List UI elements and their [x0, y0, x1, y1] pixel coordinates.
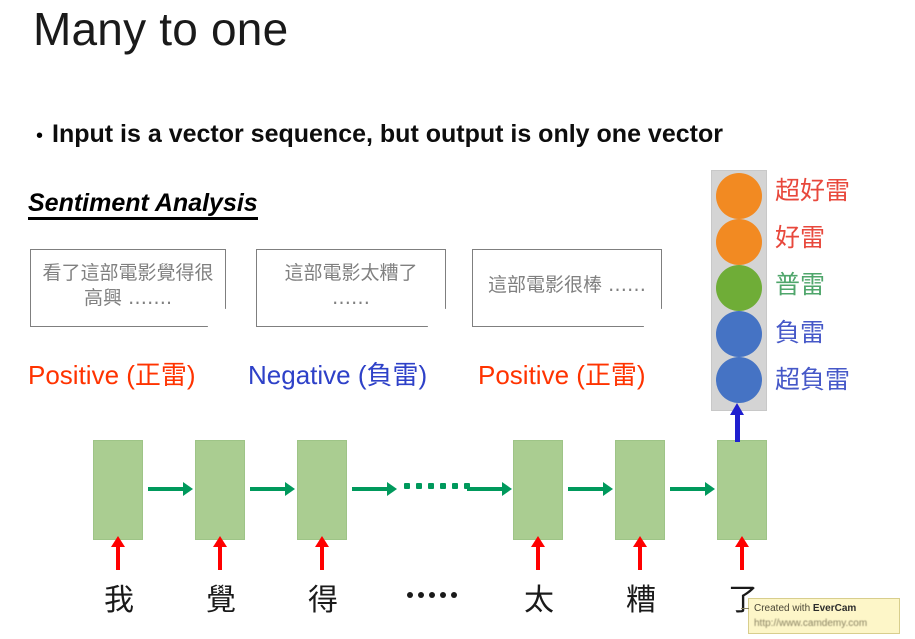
output-arrow-icon [735, 414, 740, 442]
section-heading: Sentiment Analysis [28, 190, 258, 220]
sentiment-label: Positive (正雷) [478, 355, 646, 392]
review-bubble: 這部電影太糟了 …… [256, 249, 446, 327]
review-bubble: 看了這部電影覺得很高興 ……. [30, 249, 226, 327]
input-arrow-icon [320, 546, 324, 570]
recurrent-arrow-icon [467, 487, 503, 491]
rating-dot-icon [716, 219, 762, 265]
rnn-cell [195, 440, 245, 540]
watermark-prefix: Created with [754, 603, 813, 614]
input-ellipsis-dots [407, 592, 457, 598]
bullet-line: • Input is a vector sequence, but output… [36, 120, 723, 149]
watermark: Created with EverCam http://www.camdemy.… [748, 598, 900, 634]
page-title: Many to one [33, 2, 288, 56]
rating-dot-icon [716, 173, 762, 219]
input-arrow-icon [116, 546, 120, 570]
rnn-cell [717, 440, 767, 540]
input-character: 我 [104, 575, 134, 619]
rating-label: 好雷 [775, 225, 825, 250]
review-bubble: 這部電影很棒 …… [472, 249, 662, 327]
watermark-brand: EverCam [813, 603, 856, 614]
recurrent-arrow-icon [250, 487, 286, 491]
rating-dot-icon [716, 357, 762, 403]
rnn-cell [297, 440, 347, 540]
recurrent-arrow-icon [670, 487, 706, 491]
recurrent-arrow-icon [568, 487, 604, 491]
input-character: 覺 [206, 575, 236, 619]
watermark-line-1: Created with EverCam [754, 602, 894, 617]
review-bubble-text: 這部電影很棒 …… [488, 273, 646, 298]
input-arrow-icon [638, 546, 642, 570]
sequence-ellipsis-dots [404, 483, 470, 489]
input-arrow-icon [536, 546, 540, 570]
rnn-cell [93, 440, 143, 540]
rnn-cell [513, 440, 563, 540]
watermark-url: http://www.camdemy.com [754, 617, 894, 632]
rating-label: 超負雷 [775, 367, 850, 392]
input-character: 太 [524, 575, 554, 619]
input-arrow-icon [740, 546, 744, 570]
recurrent-arrow-icon [148, 487, 184, 491]
rating-label: 普雷 [775, 272, 825, 297]
rnn-cell [615, 440, 665, 540]
input-arrow-icon [218, 546, 222, 570]
review-bubble-text: 看了這部電影覺得很高興 ……. [39, 261, 217, 311]
bullet-marker-icon: • [36, 126, 43, 146]
rating-label: 負雷 [775, 320, 825, 345]
rating-scale [711, 170, 767, 411]
sentiment-label: Negative (負雷) [248, 355, 427, 392]
bullet-text: Input is a vector sequence, but output i… [52, 120, 723, 149]
input-character: 糟 [626, 575, 656, 619]
recurrent-arrow-icon [352, 487, 388, 491]
rating-dot-icon [716, 311, 762, 357]
sentiment-label: Positive (正雷) [28, 355, 196, 392]
input-character: 得 [308, 575, 338, 619]
review-bubble-text: 這部電影太糟了 …… [265, 261, 437, 311]
rating-label: 超好雷 [775, 178, 850, 203]
rating-dot-icon [716, 265, 762, 311]
